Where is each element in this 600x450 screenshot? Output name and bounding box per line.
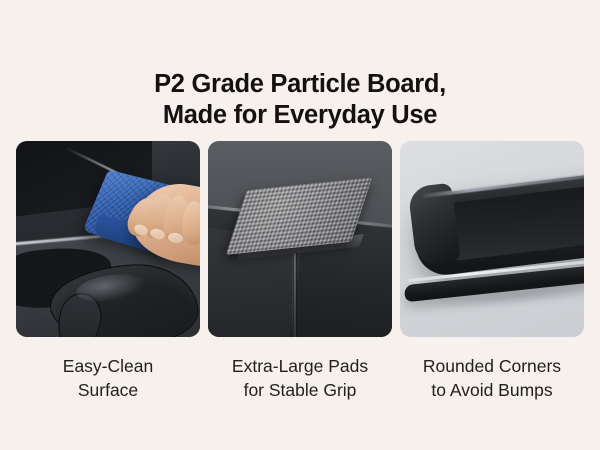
headline-line-2: Made for Everyday Use (0, 100, 600, 131)
caption-line-2: for Stable Grip (208, 379, 392, 403)
caption-rounded-corners: Rounded Corners to Avoid Bumps (400, 355, 584, 402)
feature-image-easy-clean-surface (16, 141, 200, 337)
feature-caption-row: Easy-Clean Surface Extra-Large Pads for … (16, 355, 584, 402)
feature-image-rounded-corners (400, 141, 584, 337)
product-feature-card: P2 Grade Particle Board, Made for Everyd… (0, 0, 600, 450)
cabinet-corner-seam (294, 249, 296, 337)
headline-line-1: P2 Grade Particle Board, (0, 69, 600, 100)
caption-line-1: Rounded Corners (400, 355, 584, 379)
caption-extra-large-pads: Extra-Large Pads for Stable Grip (208, 355, 392, 402)
feature-image-row (16, 141, 584, 337)
feature-image-extra-large-pads (208, 141, 392, 337)
caption-line-1: Easy-Clean (16, 355, 200, 379)
caption-line-1: Extra-Large Pads (208, 355, 392, 379)
caption-easy-clean-surface: Easy-Clean Surface (16, 355, 200, 402)
page-title: P2 Grade Particle Board, Made for Everyd… (0, 69, 600, 131)
caption-line-2: Surface (16, 379, 200, 403)
caption-line-2: to Avoid Bumps (400, 379, 584, 403)
